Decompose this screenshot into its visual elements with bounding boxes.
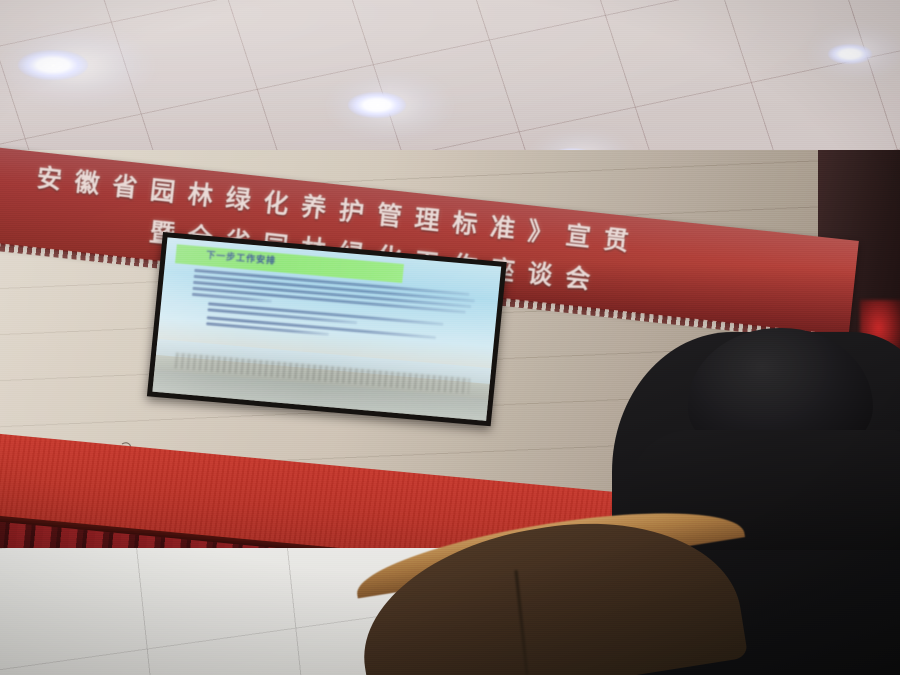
slide-body-text bbox=[189, 269, 479, 354]
downlight-2 bbox=[348, 92, 406, 118]
screen-frame: 下一步工作安排 bbox=[147, 232, 507, 426]
projection-screen[interactable]: 下一步工作安排 bbox=[147, 232, 507, 426]
downlight-5 bbox=[828, 44, 872, 64]
slide-canvas: 下一步工作安排 bbox=[152, 237, 501, 420]
downlight-1 bbox=[18, 50, 88, 80]
conference-hall-photo: 安徽省园林绿化养护管理标准》宣贯 暨全省园林绿化工作座谈会 下一步工作安排 bbox=[0, 0, 900, 675]
slide-text-line bbox=[206, 323, 329, 337]
